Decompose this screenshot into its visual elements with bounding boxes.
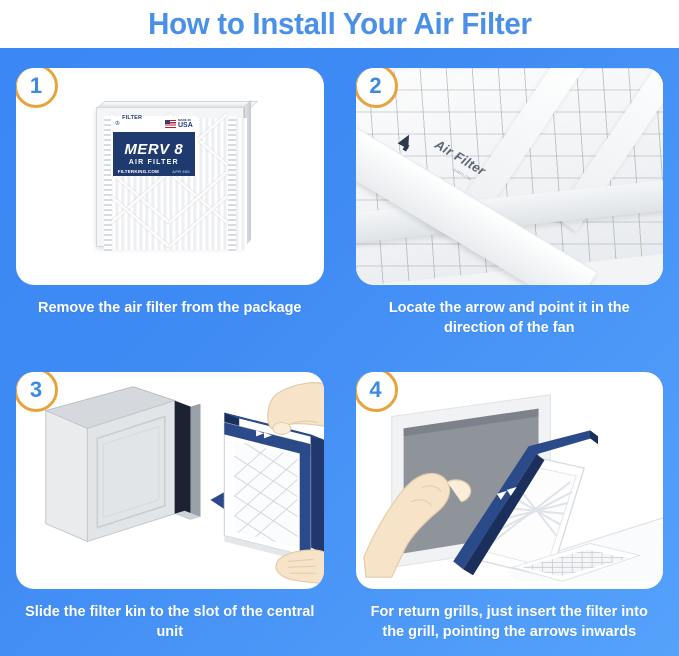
step-3-card: 3 — [16, 372, 324, 589]
step-4-caption: For return grills, just insert the filte… — [356, 602, 664, 642]
step-1-card: 1 — [16, 68, 324, 285]
made-in-usa-badge: MADE IN USA — [165, 119, 193, 129]
infographic-page: How to Install Your Air Filter 1 — [0, 0, 679, 656]
step-4: 4 — [340, 352, 679, 656]
step-2: 2 Air Filter AIRFLOW Locate the arrow an… — [340, 48, 679, 352]
apr-rating: APR 650 — [172, 169, 190, 174]
crown-icon: ♔ — [115, 121, 120, 127]
filter-right-inner-edge — [228, 116, 236, 252]
step-2-caption: Locate the arrow and point it in the dir… — [356, 298, 664, 338]
slide-filter-into-unit-illustration — [16, 372, 324, 589]
product-label-body: MERV 8 AIR FILTER FILTERKING.COM APR 650 — [113, 132, 195, 176]
merv-rating: MERV 8 — [124, 142, 183, 158]
step-1-caption: Remove the air filter from the package — [16, 298, 324, 318]
header-bar: How to Install Your Air Filter — [0, 0, 679, 48]
step-4-card: 4 — [356, 372, 664, 589]
central-unit-body — [46, 387, 201, 542]
product-label-header: ♔ FILTER KING — [111, 119, 197, 132]
usa-flag-icon — [165, 120, 176, 128]
product-label-footer: FILTERKING.COM APR 650 — [113, 169, 195, 174]
hand-top — [268, 383, 324, 435]
insert-filter-into-return-grill-illustration — [356, 372, 664, 589]
page-title: How to Install Your Air Filter — [148, 7, 532, 41]
filter-corner-arrow-photo: Air Filter AIRFLOW — [356, 68, 664, 285]
steps-grid: 1 — [0, 48, 679, 656]
website-text: FILTERKING.COM — [118, 169, 159, 174]
made-in-usa-text: MADE IN USA — [178, 119, 193, 129]
merv-8-air-filter-photo: ♔ FILTER KING — [16, 68, 324, 285]
step-3: 3 — [0, 352, 340, 656]
step-2-card: 2 Air Filter AIRFLOW — [356, 68, 664, 285]
step-1: 1 — [0, 48, 340, 352]
step-3-caption: Slide the filter kin to the slot of the … — [16, 602, 324, 642]
brand-line-1: FILTER — [122, 115, 142, 121]
product-type: AIR FILTER — [129, 159, 179, 166]
air-filter-panel — [224, 413, 323, 564]
filter-front-face: ♔ FILTER KING — [96, 107, 244, 247]
country-label: USA — [178, 122, 193, 129]
product-label: ♔ FILTER KING — [111, 116, 197, 176]
